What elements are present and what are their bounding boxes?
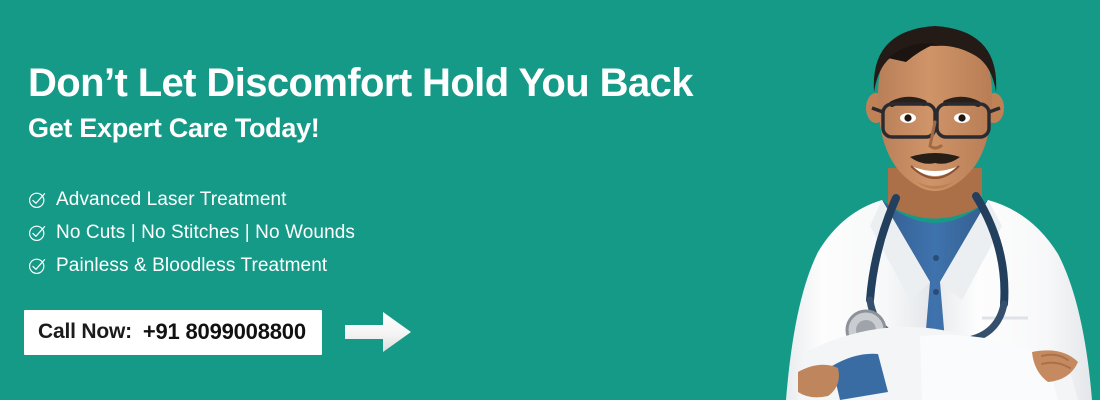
call-now-label: Call Now: [38, 320, 132, 344]
page-title: Don’t Let Discomfort Hold You Back [28, 60, 693, 106]
call-now-button[interactable]: Call Now: +91 8099008800 [24, 310, 322, 355]
circled-check-icon [28, 223, 47, 242]
feature-label: No Cuts | No Stitches | No Wounds [56, 222, 355, 244]
circled-check-icon [28, 190, 47, 209]
banner-content: Don’t Let Discomfort Hold You Back Get E… [24, 0, 814, 400]
doctor-photo [770, 0, 1100, 400]
feature-list: Advanced Laser Treatment No Cuts | No St… [28, 183, 355, 282]
phone-number[interactable]: +91 8099008800 [143, 319, 306, 345]
arrow-right-icon [343, 306, 413, 358]
promo-banner: Don’t Let Discomfort Hold You Back Get E… [0, 0, 1100, 400]
list-item: Advanced Laser Treatment [28, 183, 355, 216]
feature-label: Painless & Bloodless Treatment [56, 255, 327, 277]
feature-label: Advanced Laser Treatment [56, 189, 287, 211]
circled-check-icon [28, 256, 47, 275]
call-to-action: Call Now: +91 8099008800 [24, 306, 413, 358]
list-item: Painless & Bloodless Treatment [28, 249, 355, 282]
list-item: No Cuts | No Stitches | No Wounds [28, 216, 355, 249]
banner-subtitle: Get Expert Care Today! [28, 112, 319, 144]
